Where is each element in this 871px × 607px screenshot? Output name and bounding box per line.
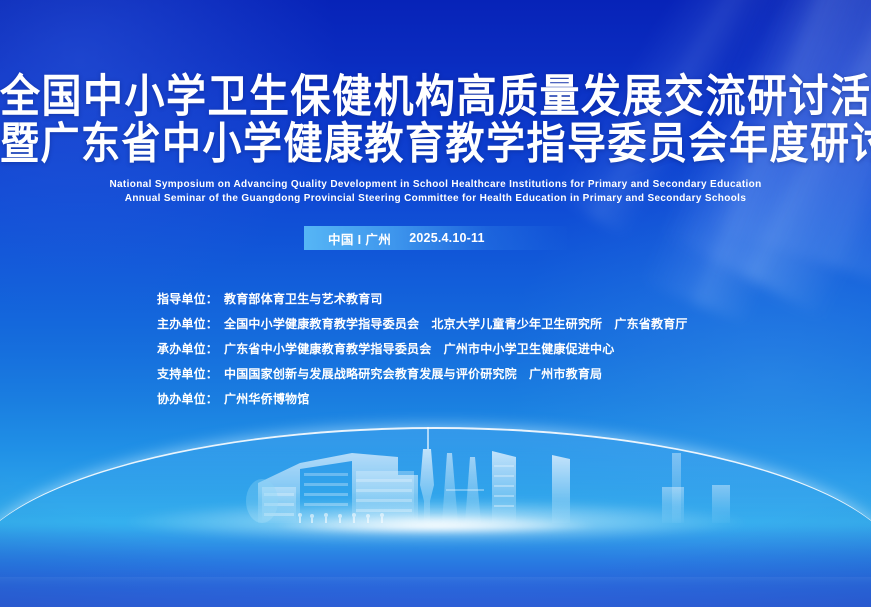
organizer-label: 主办单位： xyxy=(157,315,218,332)
horizon-highlight xyxy=(271,517,601,535)
badge-location: 中国 I 广州 xyxy=(328,229,391,248)
organizer-value: 中国国家创新与发展战略研究会教育发展与评价研究院 广州市教育局 xyxy=(224,365,602,382)
horizon-arc xyxy=(0,427,871,577)
ground-glow xyxy=(126,499,746,545)
school-building-icon xyxy=(246,453,418,523)
organizer-label: 承办单位： xyxy=(157,340,218,357)
subtitle-line-2: Annual Seminar of the Guangdong Provinci… xyxy=(0,192,871,206)
organizer-row: 承办单位： 广东省中小学健康教育教学指导委员会 广州市中小学卫生健康促进中心 xyxy=(157,340,688,365)
organizer-label: 指导单位： xyxy=(157,290,218,307)
organizer-row: 主办单位： 全国中小学健康教育教学指导委员会 北京大学儿童青少年卫生研究所 广东… xyxy=(157,315,688,340)
organizer-label: 协办单位： xyxy=(157,390,218,407)
title-line-2: 暨广东省中小学健康教育教学指导委员会年度研讨活动 xyxy=(0,118,871,171)
organizer-value: 广州华侨博物馆 xyxy=(224,390,309,407)
location-date-badge-wrap: 中国 I 广州 2025.4.10-11 xyxy=(0,226,871,250)
badge-date: 2025.4.10-11 xyxy=(409,231,484,245)
location-date-badge: 中国 I 广州 2025.4.10-11 xyxy=(304,226,567,250)
city-scene xyxy=(0,407,871,607)
title-line-1: 全国中小学卫生保健机构高质量发展交流研讨活动 xyxy=(0,71,871,124)
organizer-list: 指导单位： 教育部体育卫生与艺术教育司 主办单位： 全国中小学健康教育教学指导委… xyxy=(157,290,688,415)
organizer-value: 教育部体育卫生与艺术教育司 xyxy=(224,290,383,307)
needle-towers-icon xyxy=(442,453,484,523)
organizer-label: 支持单位： xyxy=(157,365,218,382)
canton-tower-icon xyxy=(420,427,434,523)
right-towers-icon xyxy=(662,453,730,523)
guangzhou-skyline-icon xyxy=(0,423,871,543)
organizer-value: 全国中小学健康教育教学指导委员会 北京大学儿童青少年卫生研究所 广东省教育厅 xyxy=(224,315,688,332)
lower-gradient-fill xyxy=(0,527,871,607)
conference-poster: 全国中小学卫生保健机构高质量发展交流研讨活动 暨广东省中小学健康教育教学指导委员… xyxy=(0,0,871,607)
organizer-row: 协办单位： 广州华侨博物馆 xyxy=(157,390,688,415)
highrise-slab-icon xyxy=(552,455,570,523)
subtitle-line-1: National Symposium on Advancing Quality … xyxy=(0,178,871,192)
organizer-value: 广东省中小学健康教育教学指导委员会 广州市中小学卫生健康促进中心 xyxy=(224,340,614,357)
ladder-tower-icon xyxy=(492,451,516,523)
poster-subtitle-block: National Symposium on Advancing Quality … xyxy=(0,178,871,206)
organizer-row: 支持单位： 中国国家创新与发展战略研究会教育发展与评价研究院 广州市教育局 xyxy=(157,365,688,390)
organizer-row: 指导单位： 教育部体育卫生与艺术教育司 xyxy=(157,290,688,315)
poster-title-block: 全国中小学卫生保健机构高质量发展交流研讨活动 暨广东省中小学健康教育教学指导委员… xyxy=(0,74,871,168)
